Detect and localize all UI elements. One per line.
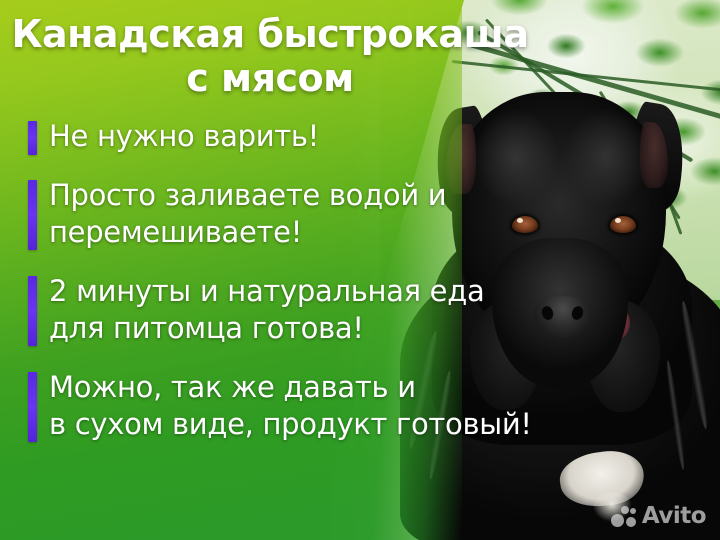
promo-poster: Канадская быстрокаша с мясом Не нужно ва… (0, 0, 720, 540)
benefit-list: Не нужно варить! Просто заливаете водой … (28, 118, 588, 465)
benefit-item-label: Просто заливаете водой и перемешиваете! (49, 177, 446, 251)
benefit-item: Не нужно варить! (28, 118, 588, 155)
benefit-item-label: 2 минуты и натуральная еда для питомца г… (49, 273, 484, 347)
avito-wordmark: Avito (642, 505, 706, 528)
poster-headline: Канадская быстрокаша с мясом (0, 12, 540, 100)
avito-watermark: Avito (611, 505, 706, 528)
bullet-marker-icon (28, 276, 37, 346)
avito-dots-icon (611, 506, 637, 528)
benefit-item: 2 минуты и натуральная еда для питомца г… (28, 273, 588, 347)
benefit-item: Можно, так же давать и в сухом виде, про… (28, 369, 588, 443)
poster-content: Канадская быстрокаша с мясом Не нужно ва… (0, 0, 720, 540)
benefit-item: Просто заливаете водой и перемешиваете! (28, 177, 588, 251)
benefit-item-label: Не нужно варить! (49, 118, 319, 155)
benefit-item-label: Можно, так же давать и в сухом виде, про… (49, 369, 532, 443)
bullet-marker-icon (28, 180, 37, 250)
bullet-marker-icon (28, 121, 37, 155)
bullet-marker-icon (28, 372, 37, 442)
